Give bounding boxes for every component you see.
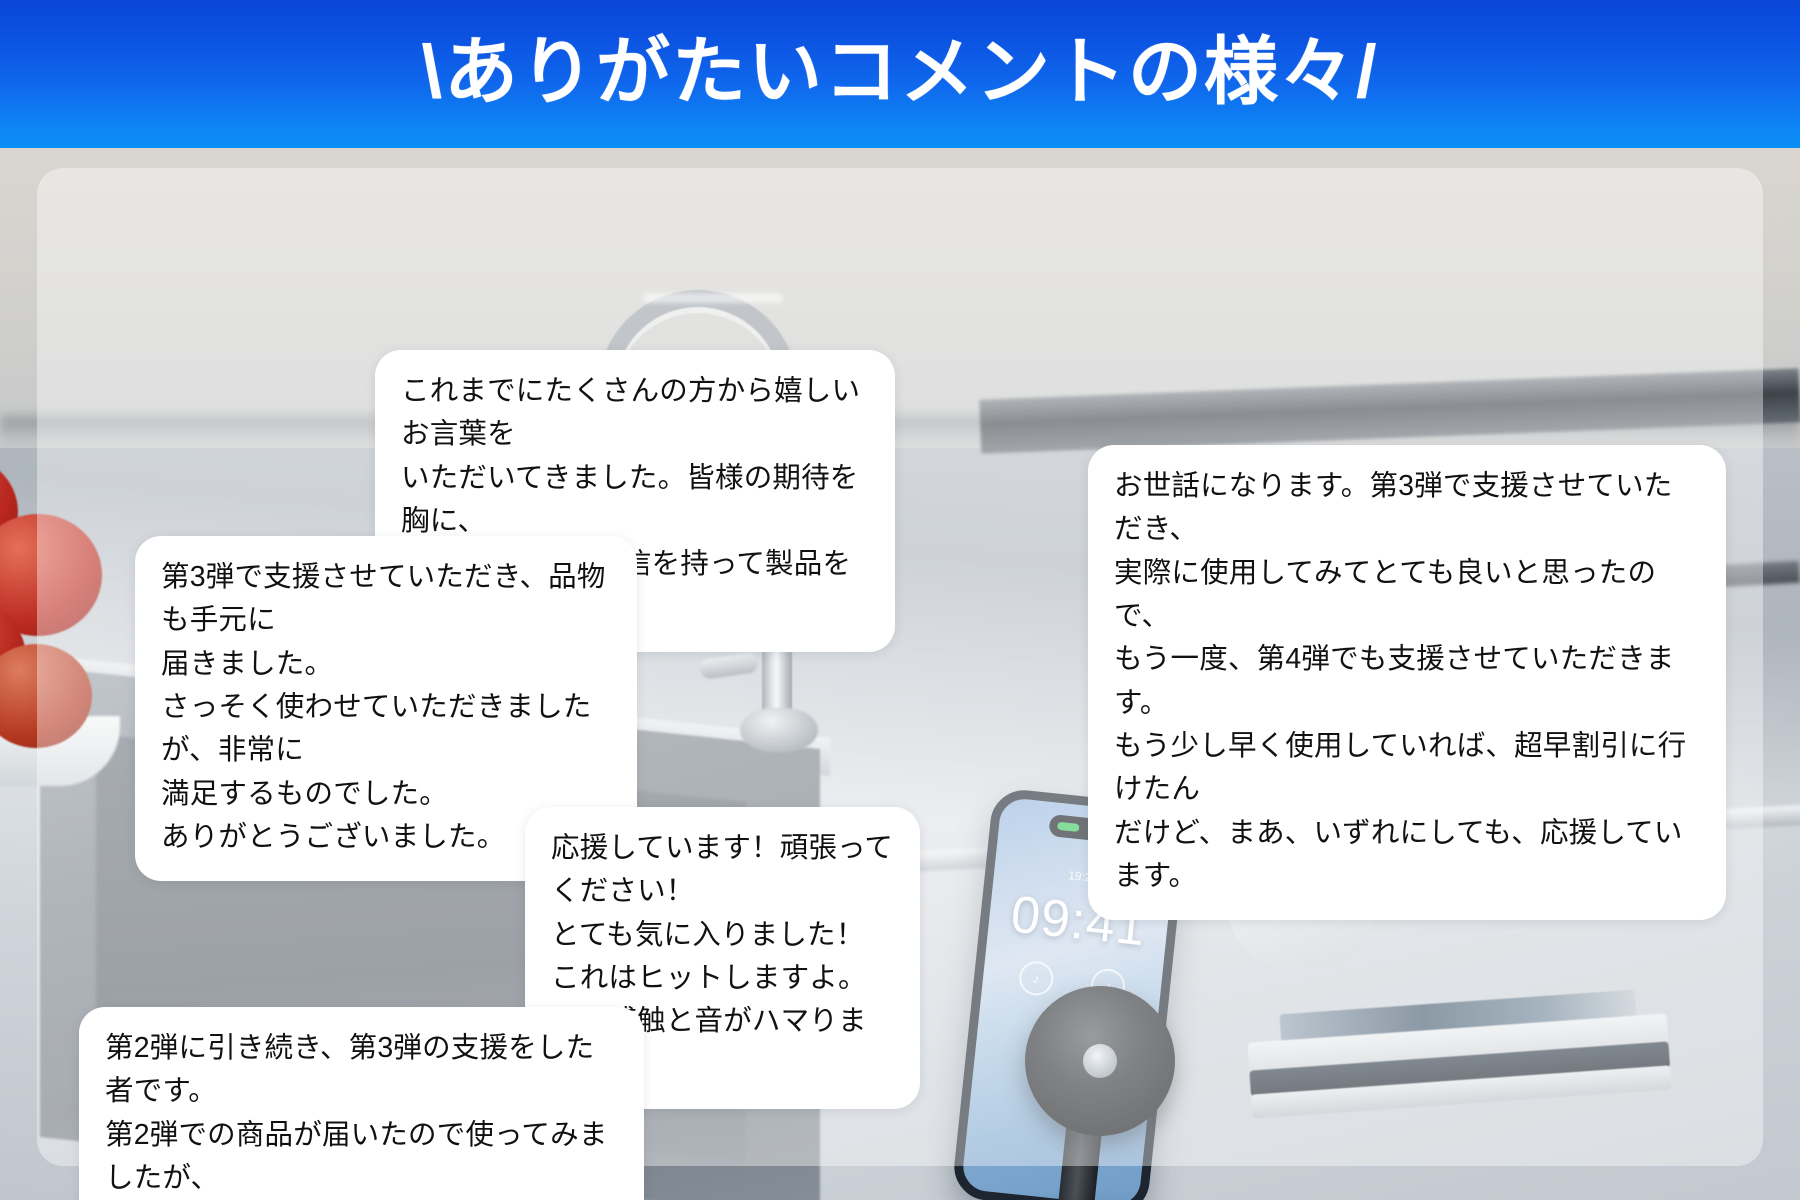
- product-photo-background: 19:29 09:41 ♪ ♪ これまでにたくさんの方から嬉しいお言葉を いただ…: [0, 148, 1800, 1200]
- header-banner: \ありがたいコメントの様々/: [0, 0, 1800, 148]
- comment-bubble-round4-support: お世話になります。第3弾で支援させていただき、 実際に使用してみてとても良いと思…: [1088, 445, 1726, 920]
- comment-bubble-round2-and-3: 第2弾に引き続き、第3弾の支援をした者です。 第2弾での商品が届いたので使ってみ…: [79, 1007, 644, 1200]
- photo-phone-widget-left: ♪: [1018, 960, 1055, 997]
- photo-apple: [0, 514, 102, 636]
- page-title: \ありがたいコメントの様々/: [421, 35, 1378, 109]
- photo-faucet-base: [740, 708, 818, 752]
- photo-phone-status-green-dot: [1057, 822, 1080, 832]
- promo-page: \ありがたいコメントの様々/: [0, 0, 1800, 1200]
